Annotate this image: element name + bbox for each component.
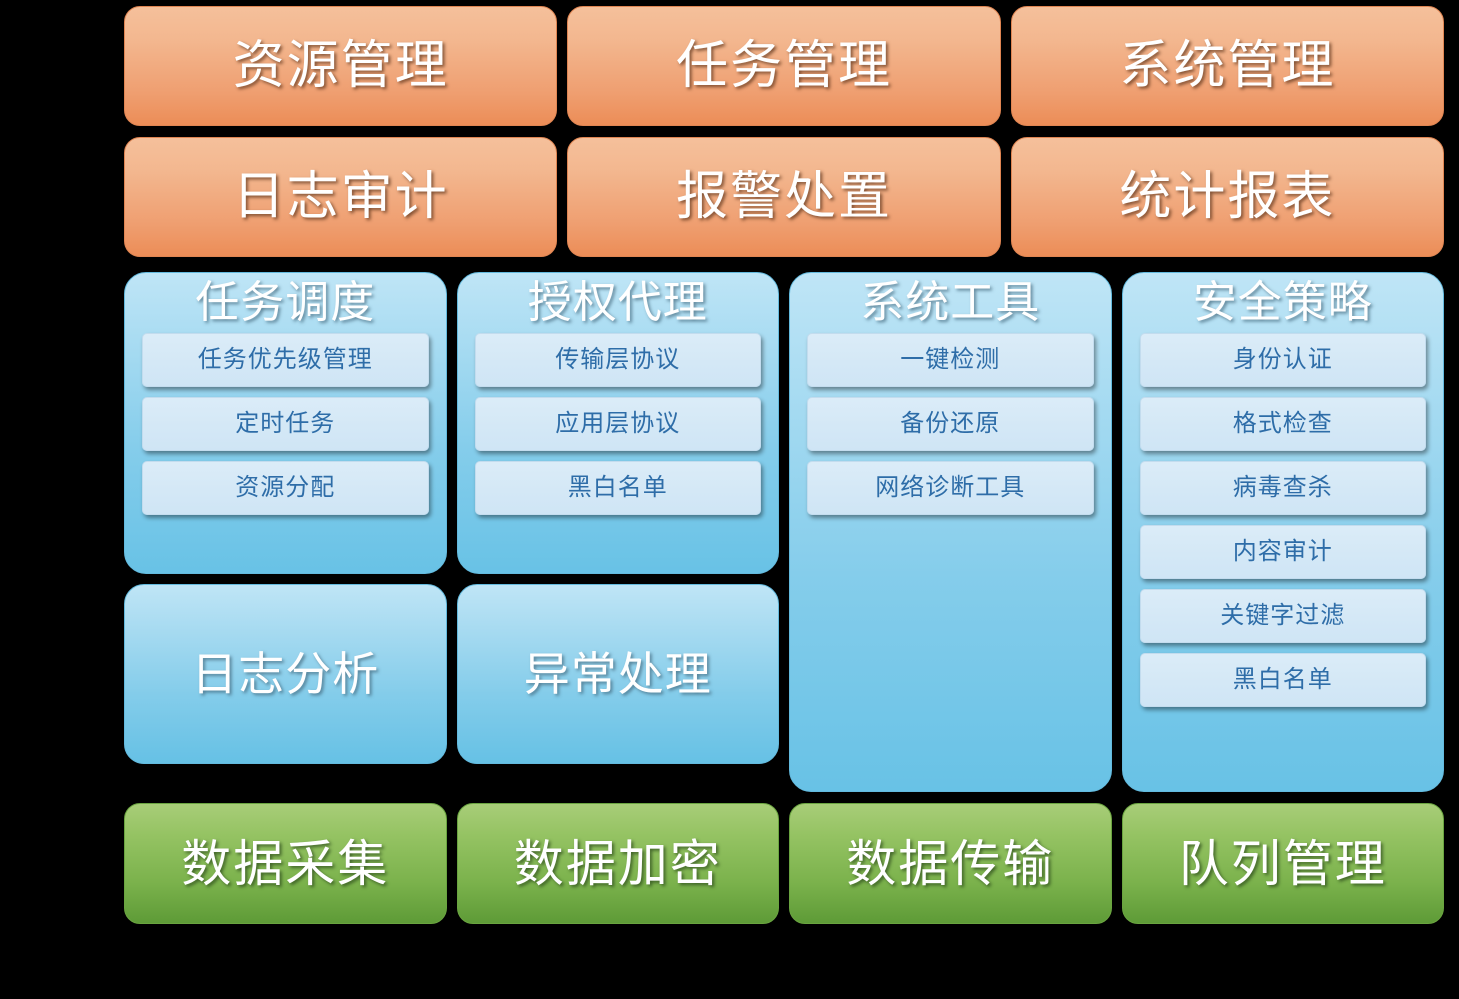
- blue-column-security-policy: 安全策略 身份认证 格式检查 病毒查杀 内容审计 关键字过滤 黑白名单: [1122, 272, 1445, 792]
- sub-item-keyword-filter[interactable]: 关键字过滤: [1140, 589, 1427, 643]
- sub-item-label: 关键字过滤: [1220, 604, 1345, 628]
- tile-label: 任务管理: [676, 40, 892, 92]
- blue-column-task-scheduling: 任务调度 任务优先级管理 定时任务 资源分配 日志分析: [124, 272, 447, 792]
- sub-item-format-check[interactable]: 格式检查: [1140, 397, 1427, 451]
- sub-item-label: 黑白名单: [1233, 668, 1333, 692]
- sub-item-label: 应用层协议: [555, 412, 680, 436]
- sub-item-label: 一键检测: [900, 348, 1000, 372]
- panel-title: 任务调度: [195, 279, 375, 327]
- sub-item-label: 资源分配: [235, 476, 335, 500]
- tile-label: 资源管理: [233, 40, 449, 92]
- tile-label: 系统管理: [1119, 40, 1335, 92]
- green-row: 数据采集 数据加密 数据传输 队列管理: [124, 803, 1444, 924]
- tile-label: 日志分析: [191, 651, 379, 697]
- sub-item-blacklist-whitelist[interactable]: 黑白名单: [1140, 653, 1427, 707]
- blue-panels-row: 任务调度 任务优先级管理 定时任务 资源分配 日志分析 授权代理 传输层协: [124, 272, 1444, 792]
- tile-system-management[interactable]: 系统管理: [1011, 6, 1444, 126]
- panel-title: 安全策略: [1193, 279, 1373, 327]
- sub-item-content-audit[interactable]: 内容审计: [1140, 525, 1427, 579]
- sub-item-label: 病毒查杀: [1233, 476, 1333, 500]
- tile-data-encryption[interactable]: 数据加密: [457, 803, 780, 924]
- sub-item-label: 黑白名单: [568, 476, 668, 500]
- sub-item-identity-authentication[interactable]: 身份认证: [1140, 333, 1427, 387]
- panel-title: 授权代理: [528, 279, 708, 327]
- tile-label: 数据传输: [846, 839, 1054, 889]
- sub-item-network-diagnostic-tool[interactable]: 网络诊断工具: [807, 461, 1094, 515]
- tile-data-collection[interactable]: 数据采集: [124, 803, 447, 924]
- sub-item-task-priority[interactable]: 任务优先级管理: [142, 333, 429, 387]
- sub-item-label: 身份认证: [1233, 348, 1333, 372]
- orange-row-2: 日志审计 报警处置 统计报表: [124, 137, 1444, 257]
- tile-exception-handling[interactable]: 异常处理: [457, 584, 780, 764]
- panel-authorization-agent[interactable]: 授权代理 传输层协议 应用层协议 黑白名单: [457, 272, 780, 574]
- panel-system-tools[interactable]: 系统工具 一键检测 备份还原 网络诊断工具: [789, 272, 1112, 792]
- tile-label: 队列管理: [1179, 839, 1387, 889]
- tile-log-analysis[interactable]: 日志分析: [124, 584, 447, 764]
- sub-item-virus-scan[interactable]: 病毒查杀: [1140, 461, 1427, 515]
- tile-resource-management[interactable]: 资源管理: [124, 6, 557, 126]
- sub-item-label: 定时任务: [235, 412, 335, 436]
- sub-item-application-protocol[interactable]: 应用层协议: [475, 397, 762, 451]
- sub-item-transport-protocol[interactable]: 传输层协议: [475, 333, 762, 387]
- sub-item-backup-restore[interactable]: 备份还原: [807, 397, 1094, 451]
- tile-log-audit[interactable]: 日志审计: [124, 137, 557, 257]
- blue-column-authorization-agent: 授权代理 传输层协议 应用层协议 黑白名单 异常处理: [457, 272, 780, 792]
- tile-alarm-handling[interactable]: 报警处置: [567, 137, 1000, 257]
- tile-label: 数据加密: [514, 839, 722, 889]
- sub-item-label: 格式检查: [1233, 412, 1333, 436]
- sub-item-label: 网络诊断工具: [875, 476, 1025, 500]
- sub-item-label: 内容审计: [1233, 540, 1333, 564]
- sub-item-blacklist-whitelist[interactable]: 黑白名单: [475, 461, 762, 515]
- tile-queue-management[interactable]: 队列管理: [1122, 803, 1445, 924]
- panel-security-policy[interactable]: 安全策略 身份认证 格式检查 病毒查杀 内容审计 关键字过滤 黑白名单: [1122, 272, 1445, 792]
- tile-label: 报警处置: [676, 171, 892, 223]
- tile-label: 数据采集: [181, 839, 389, 889]
- tile-statistics-report[interactable]: 统计报表: [1011, 137, 1444, 257]
- tile-label: 统计报表: [1119, 171, 1335, 223]
- sub-item-label: 任务优先级管理: [198, 348, 373, 372]
- orange-row-1: 资源管理 任务管理 系统管理: [124, 6, 1444, 126]
- tile-label: 日志审计: [233, 171, 449, 223]
- diagram-canvas: 资源管理 任务管理 系统管理 日志审计 报警处置 统计报表 任务调度 任务优先级…: [0, 0, 1459, 999]
- sub-item-label: 备份还原: [900, 412, 1000, 436]
- blue-column-system-tools: 系统工具 一键检测 备份还原 网络诊断工具: [789, 272, 1112, 792]
- tile-label: 异常处理: [524, 651, 712, 697]
- sub-item-resource-allocation[interactable]: 资源分配: [142, 461, 429, 515]
- panel-title: 系统工具: [860, 279, 1040, 327]
- tile-data-transmission[interactable]: 数据传输: [789, 803, 1112, 924]
- sub-item-one-click-detection[interactable]: 一键检测: [807, 333, 1094, 387]
- sub-item-scheduled-task[interactable]: 定时任务: [142, 397, 429, 451]
- panel-task-scheduling[interactable]: 任务调度 任务优先级管理 定时任务 资源分配: [124, 272, 447, 574]
- tile-task-management[interactable]: 任务管理: [567, 6, 1000, 126]
- sub-item-label: 传输层协议: [555, 348, 680, 372]
